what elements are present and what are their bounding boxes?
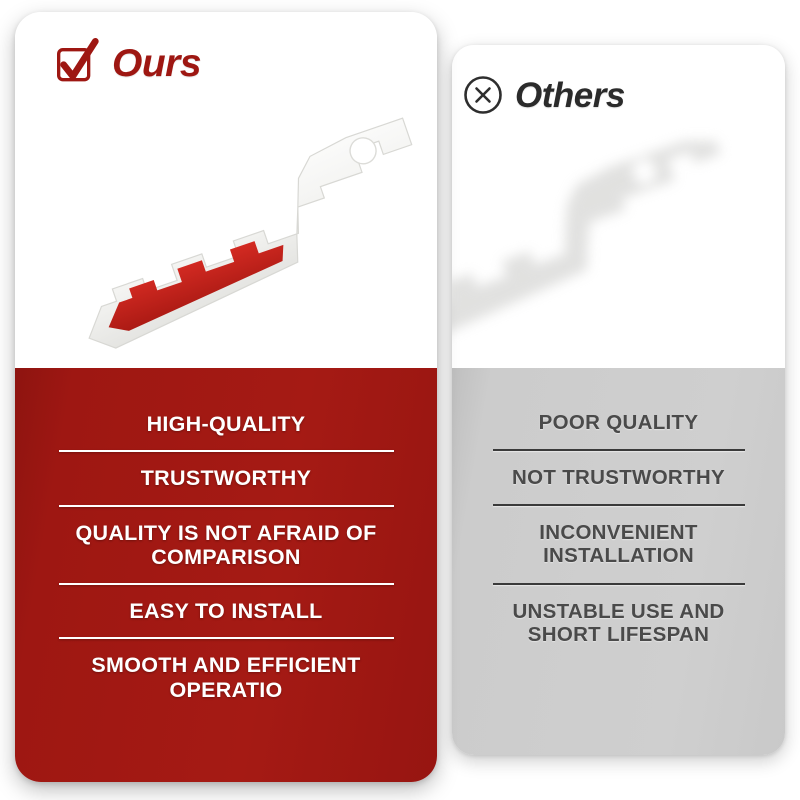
list-item: NOT TRUSTWORTHY bbox=[472, 451, 765, 504]
ours-card: HIGH-QUALITY TRUSTWORTHY QUALITY IS NOT … bbox=[15, 12, 437, 782]
ours-feature-label: EASY TO INSTALL bbox=[37, 599, 415, 623]
ours-feature-list: HIGH-QUALITY TRUSTWORTHY QUALITY IS NOT … bbox=[15, 368, 437, 782]
others-feature-label: UNSTABLE USE AND SHORT LIFESPAN bbox=[472, 600, 765, 646]
comparison-infographic: POOR QUALITY NOT TRUSTWORTHY INCONVENIEN… bbox=[0, 0, 800, 800]
circle-x-icon bbox=[462, 74, 504, 116]
others-card: POOR QUALITY NOT TRUSTWORTHY INCONVENIEN… bbox=[452, 45, 785, 755]
ours-feature-label: HIGH-QUALITY bbox=[37, 412, 415, 436]
others-feature-label: INCONVENIENT INSTALLATION bbox=[472, 521, 765, 567]
ours-product-image bbox=[43, 86, 437, 366]
list-item: TRUSTWORTHY bbox=[37, 452, 415, 504]
list-item: UNSTABLE USE AND SHORT LIFESPAN bbox=[472, 585, 765, 661]
others-feature-list: POOR QUALITY NOT TRUSTWORTHY INCONVENIEN… bbox=[452, 368, 785, 755]
others-title: Others bbox=[515, 78, 625, 113]
others-product-image bbox=[452, 141, 764, 356]
list-item: HIGH-QUALITY bbox=[37, 398, 415, 450]
others-feature-label: POOR QUALITY bbox=[472, 411, 765, 434]
checkbox-check-icon bbox=[52, 38, 102, 88]
others-features-panel: POOR QUALITY NOT TRUSTWORTHY INCONVENIEN… bbox=[452, 368, 785, 755]
list-item: INCONVENIENT INSTALLATION bbox=[472, 506, 765, 582]
others-feature-label: NOT TRUSTWORTHY bbox=[472, 466, 765, 489]
list-item: POOR QUALITY bbox=[472, 396, 765, 449]
ours-title: Ours bbox=[112, 44, 201, 83]
ours-feature-label: SMOOTH AND EFFICIENT OPERATIO bbox=[37, 653, 415, 702]
ours-feature-label: TRUSTWORTHY bbox=[37, 466, 415, 490]
list-item: EASY TO INSTALL bbox=[37, 585, 415, 637]
ours-header: Ours bbox=[52, 38, 201, 88]
ours-feature-label: QUALITY IS NOT AFRAID OF COMPARISON bbox=[37, 521, 415, 570]
ours-features-panel: HIGH-QUALITY TRUSTWORTHY QUALITY IS NOT … bbox=[15, 368, 437, 782]
list-item: SMOOTH AND EFFICIENT OPERATIO bbox=[37, 639, 415, 716]
list-item: QUALITY IS NOT AFRAID OF COMPARISON bbox=[37, 507, 415, 584]
others-header: Others bbox=[462, 74, 625, 116]
